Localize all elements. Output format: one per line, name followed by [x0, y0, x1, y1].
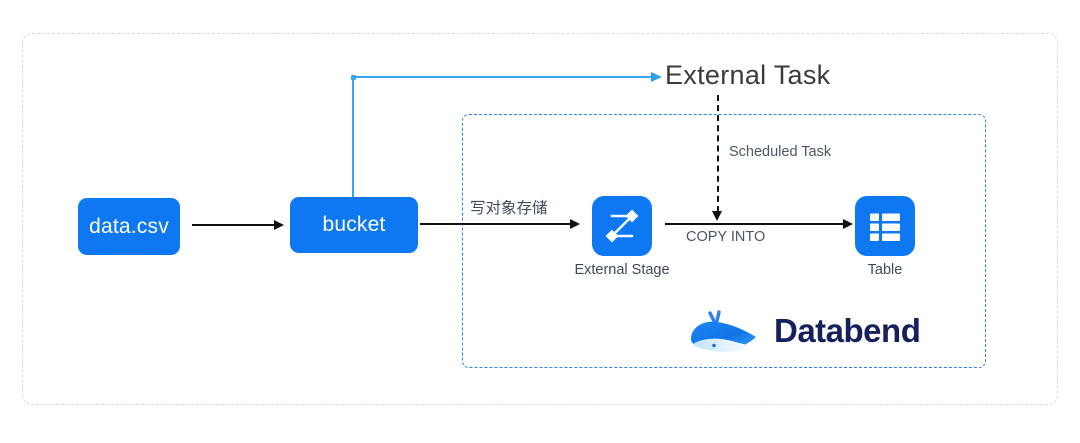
stage-icon[interactable]: [592, 196, 652, 256]
external-stage-caption: External Stage: [542, 262, 702, 278]
table-icon[interactable]: [855, 196, 915, 256]
external-task-title: External Task: [665, 60, 830, 91]
scheduled-task-label: Scheduled Task: [729, 144, 831, 160]
whale-icon: [684, 303, 766, 359]
scheduled-task-dashed-line: [717, 95, 719, 212]
write-object-storage-label: 写对象存储: [470, 196, 548, 218]
diagram-canvas: External Task Scheduled Task data.csv bu…: [0, 0, 1080, 443]
scheduled-task-arrowhead-icon: [712, 211, 722, 221]
edge-stage-to-table-arrowhead-icon: [843, 219, 853, 229]
external-task-connector-riser: [352, 76, 354, 198]
edge-bucket-to-stage: [420, 223, 570, 225]
edge-bucket-to-stage-arrowhead-icon: [570, 219, 580, 229]
node-data-csv-label: data.csv: [89, 215, 169, 239]
external-task-connector-runner: [352, 76, 652, 78]
copy-into-label: COPY INTO: [686, 229, 765, 245]
node-bucket-label: bucket: [322, 213, 385, 237]
edge-stage-to-table: [665, 223, 843, 225]
node-bucket[interactable]: bucket: [290, 197, 418, 253]
databend-wordmark: Databend: [774, 312, 920, 350]
external-task-arrowhead-icon: [651, 72, 662, 82]
node-data-csv[interactable]: data.csv: [78, 198, 180, 255]
edge-csv-to-bucket-arrowhead-icon: [274, 220, 284, 230]
table-caption: Table: [805, 262, 965, 278]
databend-logo: Databend: [684, 303, 964, 359]
external-task-connector-corner: [351, 75, 356, 80]
edge-csv-to-bucket: [192, 224, 274, 226]
